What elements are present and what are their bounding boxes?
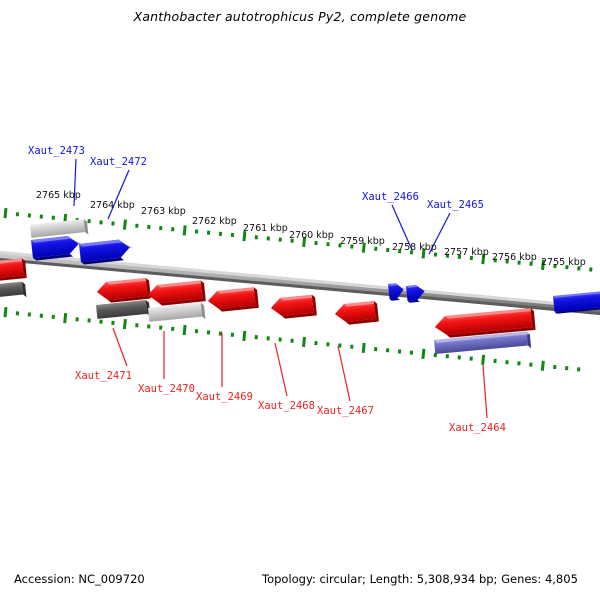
gene-label-xaut-2464[interactable]: Xaut_2464 [449, 422, 506, 434]
genome-map-viewer[interactable]: Xanthobacter autotrophicus Py2, complete… [0, 0, 600, 600]
ruler-tick-label: 2757 kbp [444, 247, 489, 258]
ruler-tick-label: 2759 kbp [340, 236, 385, 247]
ruler-tick-label: 2761 kbp [243, 223, 288, 234]
gene-label-xaut-2473[interactable]: Xaut_2473 [28, 145, 85, 157]
ruler-tick-label: 2758 kbp [392, 242, 437, 253]
shadow-bar [148, 302, 205, 325]
ruler-tick-label: 2765 kbp [36, 190, 81, 201]
ruler-tick-label: 2756 kbp [492, 252, 537, 263]
genome-stats-text: Topology: circular; Length: 5,308,934 bp… [262, 572, 578, 586]
gene-feature-reverse[interactable] [96, 278, 151, 304]
gene-label-xaut-2471[interactable]: Xaut_2471 [75, 370, 132, 382]
gene-feature-reverse[interactable] [270, 294, 317, 319]
ruler-tick-label: 2764 kbp [90, 200, 135, 211]
gene-label-xaut-2465[interactable]: Xaut_2465 [427, 199, 484, 211]
gene-feature-forward[interactable] [31, 235, 83, 261]
ruler-tick-label: 2760 kbp [289, 230, 334, 241]
shadow-bar [0, 281, 26, 301]
gene-feature-reverse[interactable] [0, 258, 27, 282]
gene-feature-reverse[interactable] [334, 301, 379, 326]
ruler-tick-label: 2755 kbp [541, 257, 586, 268]
gene-feature-reverse[interactable] [147, 280, 206, 307]
gene-label-xaut-2472[interactable]: Xaut_2472 [90, 156, 147, 168]
shadow-bar [96, 300, 150, 322]
status-bar: Accession: NC_009720 Topology: circular;… [0, 572, 600, 600]
gene-label-xaut-2467[interactable]: Xaut_2467 [317, 405, 374, 417]
gene-feature-forward[interactable] [79, 238, 134, 265]
genome-map-canvas[interactable] [0, 0, 600, 600]
gene-label-xaut-2470[interactable]: Xaut_2470 [138, 383, 195, 395]
gene-label-xaut-2469[interactable]: Xaut_2469 [196, 391, 253, 403]
ruler-tick-label: 2762 kbp [192, 216, 237, 227]
ruler-tick-label: 2763 kbp [141, 206, 186, 217]
accession-text: Accession: NC_009720 [14, 572, 145, 586]
gene-feature-reverse[interactable] [207, 287, 259, 313]
gene-label-xaut-2466[interactable]: Xaut_2466 [362, 191, 419, 203]
gene-label-xaut-2468[interactable]: Xaut_2468 [258, 400, 315, 412]
